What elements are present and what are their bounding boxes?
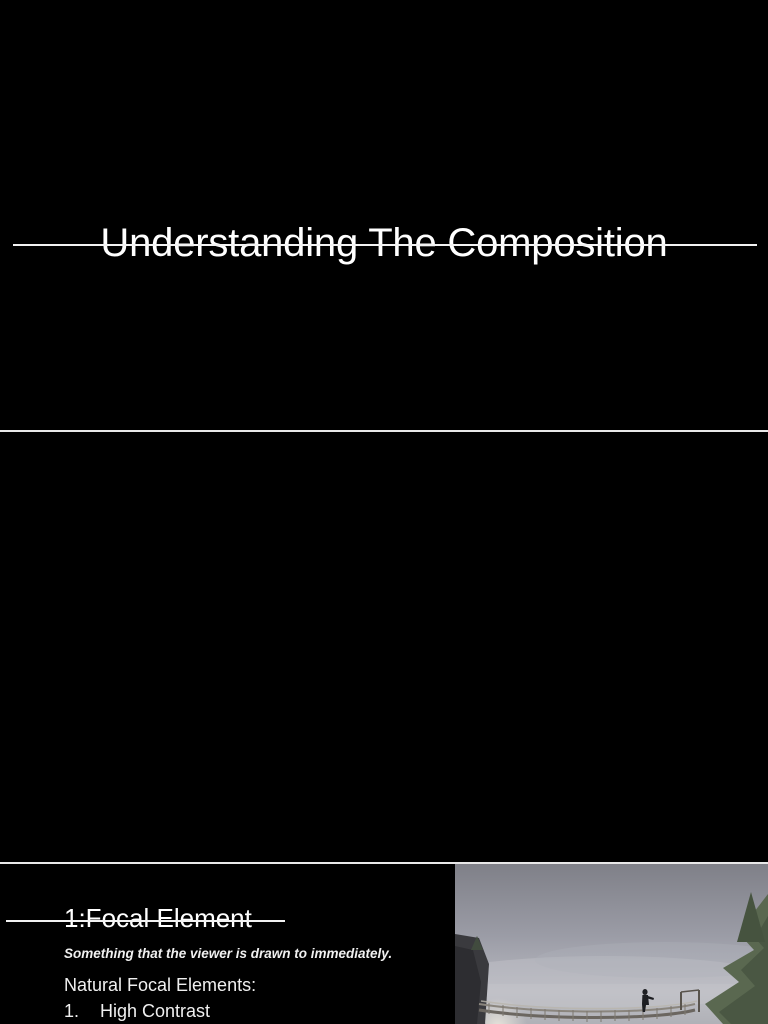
- natural-focal-elements-list: 1. High Contrast: [64, 998, 256, 1024]
- list-item-label: High Contrast: [100, 998, 210, 1024]
- section-label: Natural Focal Elements:: [64, 972, 256, 998]
- slide-heading-focal-element: 1:Focal Element: [64, 903, 252, 934]
- slide-three-stages: 3 Stages of Composition 1. Focal Element…: [0, 432, 768, 862]
- title-underline-rule: [13, 244, 757, 246]
- heading-underline-rule: [6, 920, 285, 922]
- list-item: 1. High Contrast: [64, 998, 256, 1024]
- slide-title: Understanding The Composition: [0, 0, 768, 430]
- slide-deck-page: Understanding The Composition 3 Stages o…: [0, 0, 768, 1024]
- slide-focal-element: 1:Focal Element Something that the viewe…: [0, 864, 768, 1024]
- slide-body: Natural Focal Elements: 1. High Contrast: [64, 972, 256, 1024]
- list-item-number: 1.: [64, 998, 100, 1024]
- slide-text-column: 1:Focal Element Something that the viewe…: [0, 864, 455, 1024]
- slide-subtitle: Something that the viewer is drawn to im…: [64, 946, 392, 961]
- bridge-photo: [455, 864, 768, 1024]
